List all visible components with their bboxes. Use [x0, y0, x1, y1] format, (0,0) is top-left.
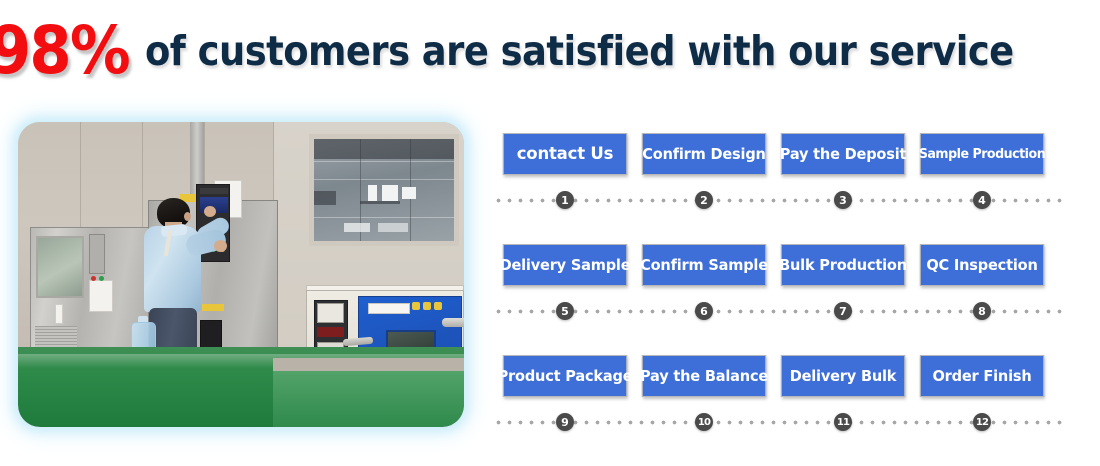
step-button-12[interactable]: Order Finish	[920, 355, 1044, 397]
photo-window	[309, 134, 459, 246]
step-badge-6: 6	[695, 302, 713, 320]
step-badge-3: 3	[834, 191, 852, 209]
step-button-11[interactable]: Delivery Bulk	[781, 355, 905, 397]
factory-photo	[18, 122, 464, 427]
step-badge-4: 4	[973, 191, 991, 209]
step-button-8[interactable]: QC Inspection	[920, 244, 1044, 286]
step-row-buttons: contact Us Confirm Design Pay the Deposi…	[501, 133, 1046, 175]
step-row: contact Us Confirm Design Pay the Deposi…	[493, 133, 1068, 244]
process-steps: contact Us Confirm Design Pay the Deposi…	[493, 133, 1068, 466]
step-badge-8: 8	[973, 302, 991, 320]
step-button-4[interactable]: Sample Production	[920, 133, 1044, 175]
photo-person-hand-upper	[204, 206, 216, 217]
step-connector-track: 9 10 11 12	[493, 413, 1068, 431]
step-button-10[interactable]: Pay the Balance	[642, 355, 766, 397]
headline-percentage: 98%	[0, 18, 129, 84]
photo-person-hand	[214, 240, 227, 252]
step-button-3[interactable]: Pay the Deposit	[781, 133, 905, 175]
headline-text: of customers are satisfied with our serv…	[145, 31, 1014, 72]
step-connector-track: 1 2 3 4	[493, 191, 1068, 209]
factory-photo-image	[18, 122, 464, 427]
step-badge-10: 10	[695, 413, 713, 431]
step-badge-2: 2	[695, 191, 713, 209]
step-row-buttons: Delivery Sample Confirm Sample Bulk Prod…	[501, 244, 1046, 286]
step-button-2[interactable]: Confirm Design	[642, 133, 766, 175]
step-connector-track: 5 6 7 8	[493, 302, 1068, 320]
step-badge-5: 5	[556, 302, 574, 320]
step-badge-7: 7	[834, 302, 852, 320]
photo-person-ear	[184, 212, 191, 221]
page-headline: 98% of customers are satisfied with our …	[0, 8, 1100, 94]
step-badge-12: 12	[973, 413, 991, 431]
step-row: Product Package Pay the Balance Delivery…	[493, 355, 1068, 466]
step-badge-9: 9	[556, 413, 574, 431]
step-badge-11: 11	[834, 413, 852, 431]
step-button-9[interactable]: Product Package	[503, 355, 627, 397]
step-button-5[interactable]: Delivery Sample	[503, 244, 627, 286]
step-button-6[interactable]: Confirm Sample	[642, 244, 766, 286]
step-button-1[interactable]: contact Us	[503, 133, 627, 175]
step-row: Delivery Sample Confirm Sample Bulk Prod…	[493, 244, 1068, 355]
step-badge-1: 1	[556, 191, 574, 209]
step-row-buttons: Product Package Pay the Balance Delivery…	[501, 355, 1046, 397]
step-button-7[interactable]: Bulk Production	[781, 244, 905, 286]
